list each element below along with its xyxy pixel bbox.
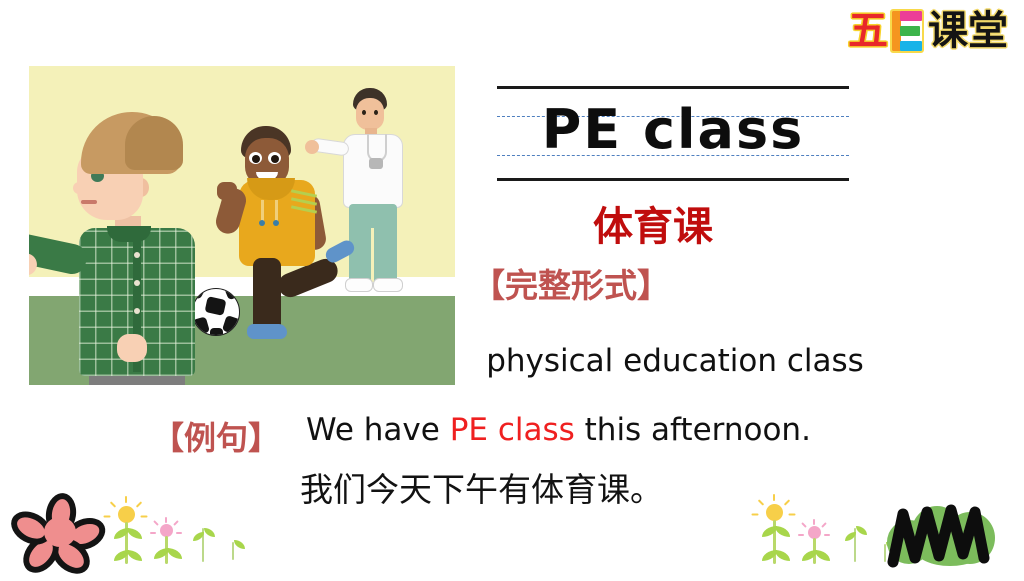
figure-blond-boy <box>29 112 229 385</box>
runner-drawstring-right <box>275 200 278 222</box>
coach-leg-split <box>371 228 374 282</box>
boy-mouth <box>81 200 97 204</box>
logo-e-bar-middle <box>900 26 920 36</box>
boy-hand-right <box>117 334 147 362</box>
logo-e-bar-top <box>900 11 922 21</box>
coach-eye-right <box>374 110 378 115</box>
coach-head <box>356 98 384 130</box>
runner-drawstring-left <box>261 200 264 222</box>
flower-doodles-right <box>756 496 896 566</box>
boy-button-1 <box>134 252 140 258</box>
boy-nose <box>73 182 85 194</box>
guide-line-bottom <box>497 178 849 181</box>
example-sentence-english: We have PE class this afternoon. <box>306 409 811 451</box>
guide-line-top <box>497 86 849 89</box>
example-sentence-chinese: 我们今天下午有体育课。 <box>300 468 663 512</box>
logo-chars-ketang: 课堂 <box>928 9 1008 53</box>
boy-button-3 <box>134 308 140 314</box>
example-highlight-phrase: PE class <box>450 412 575 448</box>
runner-pupil-left <box>252 155 260 163</box>
flower-doodles-left <box>108 498 248 568</box>
page-title-chinese: 体育课 <box>457 203 849 251</box>
example-text-before: We have <box>306 412 450 448</box>
example-label: 【例句】 <box>152 418 280 458</box>
english-title-guide-lines: PE class <box>497 86 849 182</box>
flower-decoration-large <box>18 495 104 571</box>
figure-running-boy <box>225 126 355 346</box>
lesson-illustration <box>29 66 455 385</box>
logo-char-wu: 五 <box>848 9 888 53</box>
full-form-text: physical education class <box>460 341 890 381</box>
boy-button-2 <box>134 280 140 286</box>
doodle-bloom-yellow-right <box>766 504 783 521</box>
whistle-icon <box>369 158 383 169</box>
logo-letter-e-icon <box>892 11 922 51</box>
boy-hair-shadow <box>125 116 183 170</box>
zigzag-scribble-icon <box>885 500 1007 572</box>
runner-shoe-front <box>247 324 287 339</box>
coach-eye-left <box>362 110 366 115</box>
full-form-label: 【完整形式】 <box>472 266 670 306</box>
runner-drawstring-tip-right <box>273 220 279 226</box>
runner-shoe-back <box>323 238 357 265</box>
boy-collar <box>107 226 151 242</box>
runner-drawstring-tip-left <box>259 220 265 226</box>
brand-logo: 五 课堂 <box>848 8 1008 54</box>
example-text-after: this afternoon. <box>575 412 811 448</box>
page-title-english: PE class <box>497 100 849 160</box>
coach-shoe-right <box>373 278 403 292</box>
runner-pupil-right <box>271 155 279 163</box>
doodle-bloom-yellow <box>118 506 135 523</box>
runner-leg-front <box>253 258 281 332</box>
bush-decoration <box>885 500 1007 572</box>
logo-e-bar-bottom <box>900 41 922 51</box>
